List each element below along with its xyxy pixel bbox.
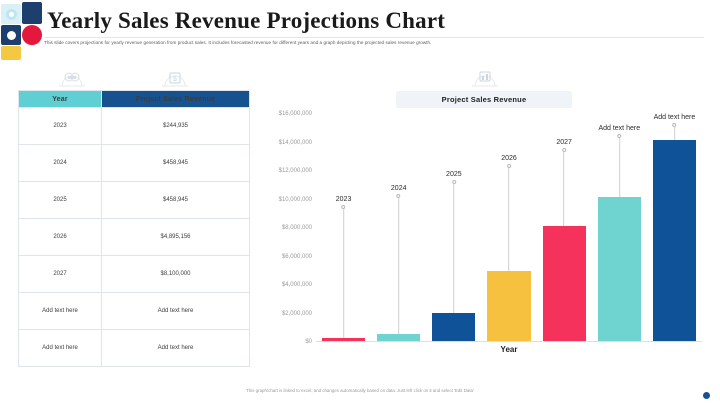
slide-canvas: Yearly Sales Revenue Projections Chart T… [0, 0, 720, 404]
bar-column[interactable]: 2026 [487, 114, 530, 341]
bar-callout-label: 2026 [501, 155, 517, 162]
bar-callout-stem [343, 209, 344, 337]
y-axis-tick: $8,000,000 [282, 225, 312, 231]
bar[interactable] [543, 226, 586, 341]
bar[interactable] [377, 334, 420, 341]
logo-square-top-left [1, 4, 21, 24]
chart-title-box: Project Sales Revenue [396, 91, 572, 108]
y-axis-tick: $16,000,000 [279, 111, 312, 117]
bar-column[interactable]: 2024 [377, 114, 420, 341]
money-bag-icon: $ [158, 64, 192, 90]
cell-revenue-placeholder[interactable]: Add text here [102, 293, 250, 330]
bar-callout-stem [508, 168, 509, 271]
logo-square-bottom-left [1, 25, 21, 45]
title-divider [44, 37, 704, 38]
table-row[interactable]: 2026 $4,895,156 [19, 219, 250, 256]
y-axis-tick: $10,000,000 [279, 197, 312, 203]
table-row[interactable]: 2025 $458,945 [19, 182, 250, 219]
cell-year: 2023 [19, 108, 102, 145]
bar-callout-label: Add text here [598, 125, 640, 132]
brand-logo [0, 2, 42, 62]
table-body: 2023 $244,935 2024 $458,945 2025 $458,94… [19, 108, 250, 367]
bar-callout-label: Add text here [654, 114, 696, 121]
logo-ring-icon [6, 9, 17, 20]
table-header-row: Year Project Sales Revenue [19, 91, 250, 108]
table-row[interactable]: 2027 $8,100,000 [19, 256, 250, 293]
bar-column[interactable]: Add text here [653, 114, 696, 341]
bar[interactable] [598, 197, 641, 341]
bar-column[interactable]: Add text here [598, 114, 641, 341]
bar-callout-stem [674, 127, 675, 140]
cell-revenue-placeholder[interactable]: Add text here [102, 330, 250, 367]
y-axis-tick: $4,000,000 [282, 282, 312, 288]
bar-callout: 2025 [446, 171, 462, 313]
y-axis-tick: $12,000,000 [279, 168, 312, 174]
target-icon [55, 64, 89, 90]
bar-column[interactable]: 2025 [432, 114, 475, 341]
chart-title: Project Sales Revenue [442, 95, 527, 104]
chart-plot: $16,000,000$14,000,000$12,000,000$10,000… [256, 114, 708, 364]
y-axis-tick: $14,000,000 [279, 140, 312, 146]
bar-callout-stem [398, 198, 399, 335]
y-axis: $16,000,000$14,000,000$12,000,000$10,000… [256, 114, 314, 342]
bar-callout: 2026 [501, 155, 517, 271]
logo-dot-icon [7, 31, 16, 40]
sales-revenue-table: Year Project Sales Revenue 2023 $244,935… [18, 90, 250, 367]
cell-revenue: $244,935 [102, 108, 250, 145]
cell-year-placeholder[interactable]: Add text here [19, 293, 102, 330]
bar-column[interactable]: 2027 [543, 114, 586, 341]
bar-callout: 2024 [391, 185, 407, 335]
bar-callout-stem [564, 152, 565, 225]
logo-square-yellow [1, 46, 21, 60]
y-axis-tick: $6,000,000 [282, 254, 312, 260]
bar-column[interactable]: 2023 [322, 114, 365, 341]
bar-callout-label: 2025 [446, 171, 462, 178]
cell-revenue: $458,945 [102, 182, 250, 219]
x-axis-label: Year [316, 345, 702, 354]
table-header-year: Year [19, 91, 102, 108]
cell-year: 2025 [19, 182, 102, 219]
presentation-icon [468, 64, 502, 90]
table-header-revenue: Project Sales Revenue [102, 91, 250, 108]
table-row[interactable]: 2024 $458,945 [19, 145, 250, 182]
bar-callout: Add text here [654, 114, 696, 140]
plot-area: 20232024202520262027Add text hereAdd tex… [316, 114, 702, 342]
bar[interactable] [432, 313, 475, 342]
bar-callout: 2023 [336, 196, 352, 337]
page-title: Yearly Sales Revenue Projections Chart [47, 8, 445, 34]
table-row[interactable]: Add text here Add text here [19, 330, 250, 367]
cell-revenue: $8,100,000 [102, 256, 250, 293]
bar-callout-label: 2023 [336, 196, 352, 203]
cell-year-placeholder[interactable]: Add text here [19, 330, 102, 367]
bar-callout-label: 2024 [391, 185, 407, 192]
bar[interactable] [322, 338, 365, 341]
table-row[interactable]: 2023 $244,935 [19, 108, 250, 145]
bar-callout-label: 2027 [556, 139, 572, 146]
bar[interactable] [487, 271, 530, 341]
cell-revenue: $4,895,156 [102, 219, 250, 256]
logo-circle-red [22, 25, 42, 45]
bar[interactable] [653, 140, 696, 341]
bar-series: 20232024202520262027Add text hereAdd tex… [316, 114, 702, 341]
cell-year: 2024 [19, 145, 102, 182]
cell-year: 2027 [19, 256, 102, 293]
logo-square-top-right [22, 2, 42, 24]
y-axis-tick: $2,000,000 [282, 311, 312, 317]
table-row[interactable]: Add text here Add text here [19, 293, 250, 330]
y-axis-tick: $0 [305, 339, 312, 345]
footer-note: This graph/chart is linked to excel, and… [0, 388, 720, 393]
revenue-bar-chart[interactable]: Project Sales Revenue $16,000,000$14,000… [256, 88, 708, 378]
cell-year: 2026 [19, 219, 102, 256]
bar-callout: Add text here [598, 125, 640, 197]
page-subtitle: This slide covers projections for yearly… [44, 40, 684, 47]
x-axis-baseline [316, 341, 702, 342]
bar-callout: 2027 [556, 139, 572, 225]
bar-callout-stem [453, 184, 454, 313]
page-indicator-dot [703, 392, 710, 399]
bar-callout-stem [619, 138, 620, 197]
cell-revenue: $458,945 [102, 145, 250, 182]
svg-text:$: $ [173, 76, 177, 83]
